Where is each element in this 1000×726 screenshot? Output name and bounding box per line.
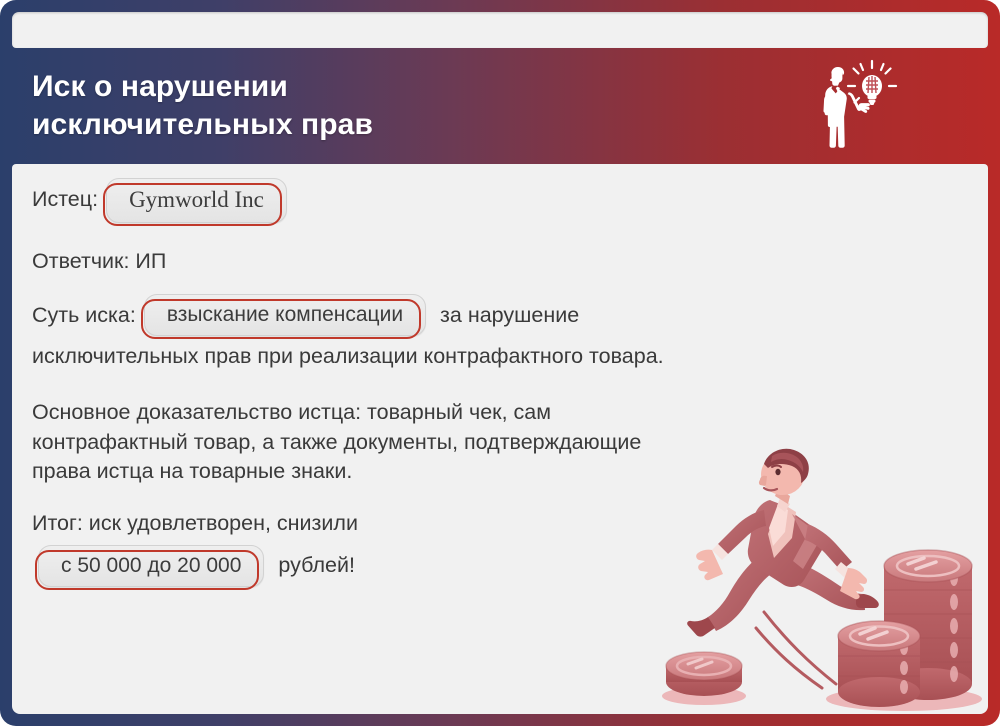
businessman-with-lightbulb-icon xyxy=(802,54,912,160)
jump-arc xyxy=(756,612,836,688)
plaintiff-label: Истец: xyxy=(32,185,98,215)
coin-stack-medium xyxy=(838,621,920,707)
plaintiff-badge[interactable]: Gymworld Inc xyxy=(106,178,287,223)
evidence-paragraph: Основное доказательство истца: товарный … xyxy=(32,398,652,487)
result-row: с 50 000 до 20 000 рублей! xyxy=(32,545,862,587)
result-badge[interactable]: с 50 000 до 20 000 xyxy=(38,545,264,587)
claim-rest: исключительных прав при реализации контр… xyxy=(32,342,862,372)
page-title: Иск о нарушении исключительных прав xyxy=(32,68,732,144)
header-band: Иск о нарушении исключительных прав xyxy=(0,48,1000,164)
result-label: Итог: иск удовлетворен, снизили xyxy=(32,509,862,539)
coin-single xyxy=(666,652,742,696)
result-tail: рублей! xyxy=(278,551,355,581)
claim-label: Суть иска: xyxy=(32,301,136,331)
claim-tail: за нарушение xyxy=(440,301,579,331)
claim-row: Суть иска: взыскание компенсации за нару… xyxy=(32,294,862,336)
claim-badge[interactable]: взыскание компенсации xyxy=(144,294,426,336)
top-blank-bar xyxy=(12,12,988,48)
content-column: Истец: Gymworld Inc Ответчик: ИП Суть ис… xyxy=(32,170,862,587)
coin-stack-tall xyxy=(884,550,972,700)
plaintiff-row: Истец: Gymworld Inc xyxy=(32,178,862,223)
defendant-row: Ответчик: ИП xyxy=(32,247,862,277)
infographic-card: Иск о нарушении исключительных прав xyxy=(0,0,1000,726)
body-panel: Истец: Gymworld Inc Ответчик: ИП Суть ис… xyxy=(12,164,988,714)
